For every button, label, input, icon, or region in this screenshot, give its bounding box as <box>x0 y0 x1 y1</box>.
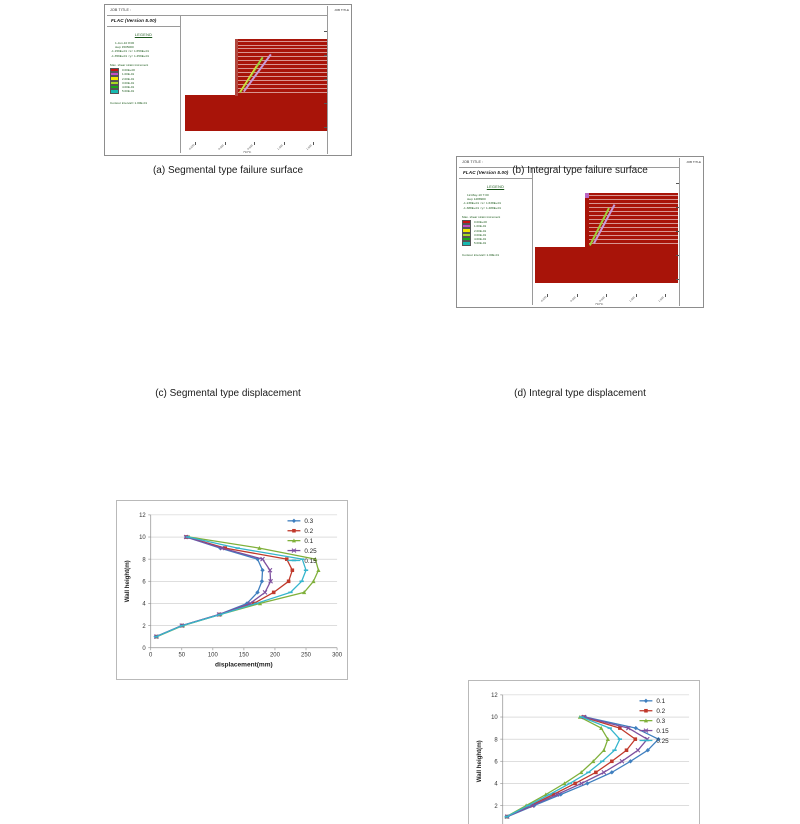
y-tick-label: 6 <box>142 579 146 585</box>
legend-swatch-row: 5.00E-01 <box>462 241 532 245</box>
y-tick-label: 0 <box>142 646 146 652</box>
series-marker-0.25 <box>586 772 590 774</box>
flac-panel-a: JOB TITLE : JOB TITLE FLAC (Version 5.00… <box>104 4 352 156</box>
flac-a-right-label: JOB TITLE <box>334 8 349 12</box>
x-tick <box>636 294 637 297</box>
legend-swatch-value: 5.00E-01 <box>474 241 486 245</box>
series-marker-0.2 <box>610 760 614 764</box>
y-axis-label: Wall height(m) <box>124 560 131 602</box>
flac-a-legend-column: FLAC (Version 5.00) LEGEND 1-Jun-10 8:06… <box>107 15 181 153</box>
x-tick-label: 150 <box>239 653 250 659</box>
series-marker-0.3 <box>602 748 606 752</box>
series-marker-0.2 <box>291 568 295 572</box>
series-line-0.2 <box>156 537 292 637</box>
flac-panel-b: JOB TITLE : JOB TITLE FLAC (Version 5.00… <box>456 156 704 308</box>
x-axis-exponent: (*10^1) <box>595 303 603 305</box>
x-tick <box>254 142 255 145</box>
y-tick <box>324 103 327 104</box>
flac-b-mesh-group <box>533 167 679 305</box>
series-marker-0.15 <box>186 536 190 538</box>
y-tick <box>324 55 327 56</box>
flac-a-contour-header: Max. shear strain increment <box>107 63 180 67</box>
y-tick <box>676 231 679 232</box>
flac-b-yrange: -1.388E+01 <y< 1.488E+01 <box>463 206 532 210</box>
x-tick <box>547 294 548 297</box>
series-marker-0.25 <box>608 727 612 729</box>
series-marker-0.25 <box>526 805 530 807</box>
flac-a-legend-lines: 1-Jun-10 8:06 step 1505000 -1.159E+01 <x… <box>107 41 180 58</box>
series-marker-0.25 <box>618 738 622 740</box>
series-marker-0.25 <box>612 749 616 751</box>
flac-a-y-axis: 1.0000.5000.000-0.500-1.000 <box>326 15 327 153</box>
flac-a-swatches: 0.00E+001.00E-012.00E-013.00E-014.00E-01… <box>107 68 180 94</box>
series-marker-0.15 <box>636 748 640 752</box>
series-marker-0.3 <box>260 568 264 572</box>
x-tick <box>284 142 285 145</box>
legend-label-0.2: 0.2 <box>304 528 313 535</box>
flac-b-facing-top-cap <box>585 193 589 198</box>
series-marker-0.25 <box>547 794 551 796</box>
series-marker-0.25 <box>505 816 509 818</box>
x-tick <box>195 142 196 145</box>
series-line-0.25 <box>156 537 270 637</box>
y-tick-label: 8 <box>142 557 146 563</box>
flac-b-legend-column: FLAC (Version 5.00) LEGEND 12-May-10 7:0… <box>459 167 533 305</box>
series-marker-0.15 <box>235 547 239 549</box>
flac-a-version: FLAC (Version 5.00) <box>107 15 180 27</box>
y-tick <box>676 207 679 208</box>
series-marker-0.2 <box>594 771 598 775</box>
flac-b-x-axis: -0.5000.0000.5001.0001.500(*10^1) <box>533 294 679 295</box>
x-tick-label: 100 <box>208 653 219 659</box>
chart-d-svg: 0100200300400500600700024681012Displacem… <box>469 681 699 824</box>
series-line-0.3 <box>506 717 607 817</box>
caption-b: (b) Integral type failure surface <box>456 165 704 176</box>
flac-a-right-strip: JOB TITLE <box>327 6 350 154</box>
series-marker-0.2 <box>287 580 291 584</box>
series-marker-0.3 <box>260 579 264 583</box>
flac-a-contour-interval: Contour interval= 1.00E-01 <box>107 101 180 105</box>
flac-a-facing-column <box>235 39 238 96</box>
series-marker-0.15 <box>299 581 303 583</box>
legend-label-0.2: 0.2 <box>656 708 665 715</box>
x-tick-label: 200 <box>270 653 281 659</box>
caption-d: (d) Integral type displacement <box>456 388 704 399</box>
flac-b-contour-interval: Contour interval= 1.00E-01 <box>459 253 532 257</box>
series-marker-0.15 <box>288 592 292 594</box>
y-tick-label: 4 <box>494 782 498 788</box>
x-tick <box>225 142 226 145</box>
series-marker-0.1 <box>316 568 320 572</box>
legend-marker-0.15 <box>292 560 296 562</box>
legend-marker-0.3 <box>292 519 296 523</box>
y-tick <box>676 255 679 256</box>
legend-label-0.3: 0.3 <box>656 718 665 725</box>
x-tick-label: 50 <box>178 653 185 659</box>
x-axis-label: displacement(mm) <box>215 662 273 669</box>
flac-b-y-axis: 1.0000.5000.000-0.500-1.000 <box>678 167 679 305</box>
y-tick-label: 2 <box>494 804 497 810</box>
series-marker-0.25 <box>600 761 604 763</box>
y-axis-label: Wall height(m) <box>476 740 483 782</box>
x-tick-label: 300 <box>332 653 343 659</box>
flac-a-contour-stripes <box>237 39 327 96</box>
y-tick <box>676 183 679 184</box>
caption-c: (c) Segmental type displacement <box>104 388 352 399</box>
flac-a-foundation-block <box>185 95 327 131</box>
legend-color-swatch <box>462 241 471 245</box>
y-tick-label: 2 <box>142 624 145 630</box>
series-marker-0.2 <box>573 782 577 786</box>
legend-marker-0.2 <box>644 709 648 713</box>
legend-color-swatch <box>110 89 119 93</box>
chart-c-svg: 050100150200250300024681012displacement(… <box>117 501 347 679</box>
chart-c: 050100150200250300024681012displacement(… <box>116 500 348 680</box>
flac-b-facing-column <box>585 193 589 248</box>
series-marker-0.15 <box>218 614 222 616</box>
caption-a: (a) Segmental type failure surface <box>104 165 352 176</box>
flac-b-swatches: 0.00E+001.00E-012.00E-013.00E-014.00E-01… <box>459 220 532 246</box>
legend-marker-0.1 <box>644 699 648 703</box>
series-marker-0.25 <box>568 783 572 785</box>
legend-label-0.3: 0.3 <box>304 518 313 525</box>
legend-marker-0.25 <box>644 740 648 742</box>
x-tick <box>665 294 666 297</box>
legend-label-0.25: 0.25 <box>304 548 317 555</box>
x-axis-exponent: (*10^1) <box>243 151 251 153</box>
series-line-0.2 <box>507 717 635 817</box>
series-marker-0.2 <box>625 748 629 752</box>
series-marker-0.15 <box>254 603 258 605</box>
series-marker-0.15 <box>304 569 308 571</box>
flac-b-right-label: JOB TITLE <box>686 160 701 164</box>
y-tick <box>324 79 327 80</box>
y-tick <box>324 31 327 32</box>
y-tick-label: 10 <box>139 535 146 541</box>
y-tick-label: 8 <box>494 737 498 743</box>
flac-a-yrange: -1.359E+01 <y< 1.459E+01 <box>111 54 180 58</box>
legend-swatch-row: 5.00E-01 <box>110 89 180 93</box>
x-tick <box>606 294 607 297</box>
flac-b-legend-lines: 12-May-10 7:00 step 1488900 -1.238E+01 <… <box>459 193 532 210</box>
x-tick <box>577 294 578 297</box>
series-marker-0.1 <box>634 726 638 730</box>
y-tick <box>324 127 327 128</box>
series-marker-0.15 <box>180 625 184 627</box>
y-tick <box>676 279 679 280</box>
flac-a-legend-title: LEGEND <box>107 33 180 37</box>
legend-label-0.15: 0.15 <box>304 558 317 565</box>
y-tick-label: 12 <box>139 513 146 519</box>
y-tick-label: 10 <box>491 715 498 721</box>
flac-b-foundation-block <box>535 247 678 283</box>
x-tick-label: 0 <box>149 653 153 659</box>
legend-label-0.1: 0.1 <box>304 538 313 545</box>
series-marker-0.25 <box>579 716 583 718</box>
flac-a-x-axis: -0.5000.0000.5001.0001.500(*10^1) <box>181 142 327 143</box>
flac-b-legend-title: LEGEND <box>459 185 532 189</box>
chart-d: 0100200300400500600700024681012Displacem… <box>468 680 700 824</box>
flac-b-right-strip: JOB TITLE <box>679 158 702 306</box>
y-tick-label: 12 <box>491 693 498 699</box>
flac-a-mesh-group <box>181 15 327 153</box>
x-tick <box>313 142 314 145</box>
flac-a-plot-area: -0.5000.0000.5001.0001.500(*10^1) 1.0000… <box>181 15 327 153</box>
legend-label-0.15: 0.15 <box>656 728 669 735</box>
y-tick-label: 6 <box>494 759 498 765</box>
series-marker-0.2 <box>634 737 638 741</box>
y-tick-label: 4 <box>142 602 146 608</box>
x-tick-label: 250 <box>301 653 312 659</box>
series-marker-0.15 <box>154 636 158 638</box>
legend-label-0.1: 0.1 <box>656 698 665 705</box>
flac-b-contour-header: Max. shear strain increment <box>459 215 532 219</box>
legend-label-0.25: 0.25 <box>656 738 669 745</box>
series-marker-0.2 <box>272 591 276 595</box>
legend-swatch-value: 5.00E-01 <box>122 89 134 93</box>
legend-marker-0.2 <box>292 529 296 533</box>
flac-b-plot-area: -0.5000.0000.5001.0001.500(*10^1) 1.0000… <box>533 167 679 305</box>
